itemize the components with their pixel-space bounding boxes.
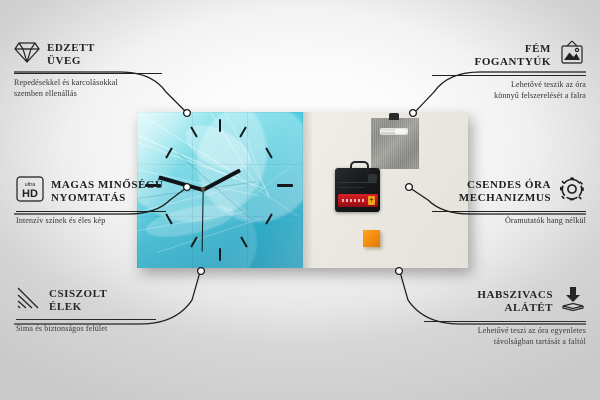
hanger-hook-icon: [389, 113, 399, 120]
callout-subtitle: Lehetővé teszi az óra egyenletes távolsá…: [424, 326, 586, 347]
gear-icon: [558, 176, 586, 207]
callout-edzett-uveg: EDZETT ÜVEG Repedésekkel és karcolásokka…: [14, 40, 162, 99]
callout-title: CSENDES ÓRA MECHANIZMUS: [459, 179, 551, 204]
second-hand: [201, 190, 203, 252]
callout-divider: [14, 73, 162, 74]
callout-title: FÉM FOGANTYÚK: [475, 43, 551, 68]
callout-csendes-ora-mechanizmus: CSENDES ÓRA MECHANIZMUS Óramu: [432, 176, 586, 227]
connector-endpoint: [198, 268, 205, 275]
callout-subtitle: Óramutatók hang nélkül: [432, 216, 586, 227]
callout-fem-fogantyuk: FÉM FOGANTYÚK Lehetővé teszik az óra kön…: [432, 40, 586, 101]
metal-hanger-plate: [371, 118, 419, 169]
callout-subtitle: Repedésekkel és karcolásokkal szemben el…: [14, 78, 162, 99]
callout-habszivacs-alatet: HABSZIVACS ALÁTÉT Lehetővé teszi az óra …: [424, 286, 586, 347]
clock-hub: [201, 187, 205, 191]
ultra-hd-badge-icon: ultra HD: [16, 176, 44, 207]
battery: +: [338, 194, 378, 207]
hour-hand: [202, 169, 241, 192]
callout-divider: [424, 321, 586, 322]
callout-subtitle: Intenzív színek és éles kép: [16, 216, 166, 227]
callout-title: EDZETT ÜVEG: [47, 42, 95, 67]
foam-pad: [363, 230, 380, 247]
clock-mechanism: +: [335, 168, 380, 212]
hanging-frame-icon: [558, 40, 586, 71]
diamond-icon: [14, 40, 40, 69]
callout-magas-minosegu-nyomtatas: ultra HD MAGAS MINŐSÉGŰ NYOMTATÁS Intenz…: [16, 176, 166, 227]
callout-title: MAGAS MINŐSÉGŰ NYOMTATÁS: [51, 179, 164, 204]
foam-pad-arrow-icon: [560, 286, 586, 317]
mechanism-hanging-loop: [350, 161, 369, 172]
product-image: +: [137, 112, 468, 268]
callout-title: CSISZOLT ÉLEK: [49, 288, 107, 313]
callout-csiszolt-elek: CSISZOLT ÉLEK Sima és biztonságos felüle…: [16, 286, 156, 335]
svg-text:HD: HD: [22, 188, 38, 200]
callout-divider: [432, 75, 586, 76]
callout-divider: [16, 211, 166, 212]
connector-endpoint: [396, 268, 403, 275]
callout-subtitle: Lehetővé teszik az óra könnyű felszerelé…: [432, 80, 586, 101]
infographic-canvas: +: [0, 0, 600, 400]
callout-divider: [16, 319, 156, 320]
callout-subtitle: Sima és biztonságos felület: [16, 324, 156, 335]
callout-title: HABSZIVACS ALÁTÉT: [477, 289, 553, 314]
bevelled-edge-icon: [16, 286, 42, 315]
callout-divider: [432, 211, 586, 212]
